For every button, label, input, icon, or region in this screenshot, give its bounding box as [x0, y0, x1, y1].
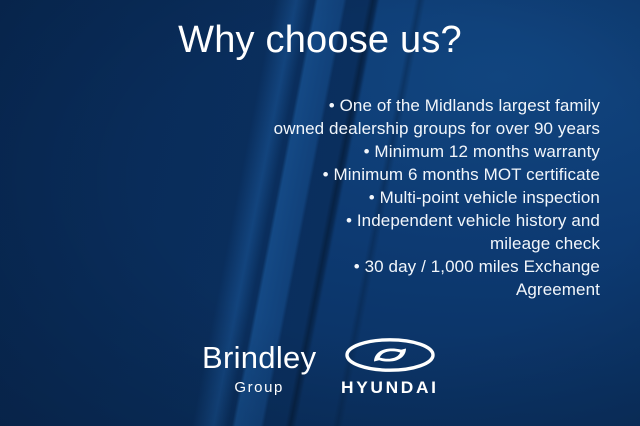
logo-row: Brindley Group HYUNDAI [0, 338, 640, 398]
list-item: • Multi-point vehicle inspection [40, 186, 600, 209]
promotional-banner: Why choose us? • One of the Midlands lar… [0, 0, 640, 426]
list-item: • One of the Midlands largest family [40, 94, 600, 117]
brindley-group-logo: Brindley Group [202, 342, 316, 395]
brindley-wordmark: Brindley [202, 342, 316, 373]
list-item: • Minimum 12 months warranty [40, 140, 600, 163]
benefits-list: • One of the Midlands largest family own… [40, 94, 600, 301]
list-item: owned dealership groups for over 90 year… [40, 117, 600, 140]
hyundai-wordmark: HYUNDAI [341, 378, 439, 398]
list-item: • Independent vehicle history and [40, 209, 600, 232]
headline: Why choose us? [40, 20, 600, 62]
hyundai-h-ellipse-icon [344, 338, 436, 372]
brindley-group-subtext: Group [234, 380, 284, 395]
list-item: mileage check [40, 232, 600, 255]
list-item: • Minimum 6 months MOT certificate [40, 163, 600, 186]
hyundai-logo: HYUNDAI [342, 338, 438, 398]
list-item: • 30 day / 1,000 miles Exchange [40, 255, 600, 278]
list-item: Agreement [40, 278, 600, 301]
